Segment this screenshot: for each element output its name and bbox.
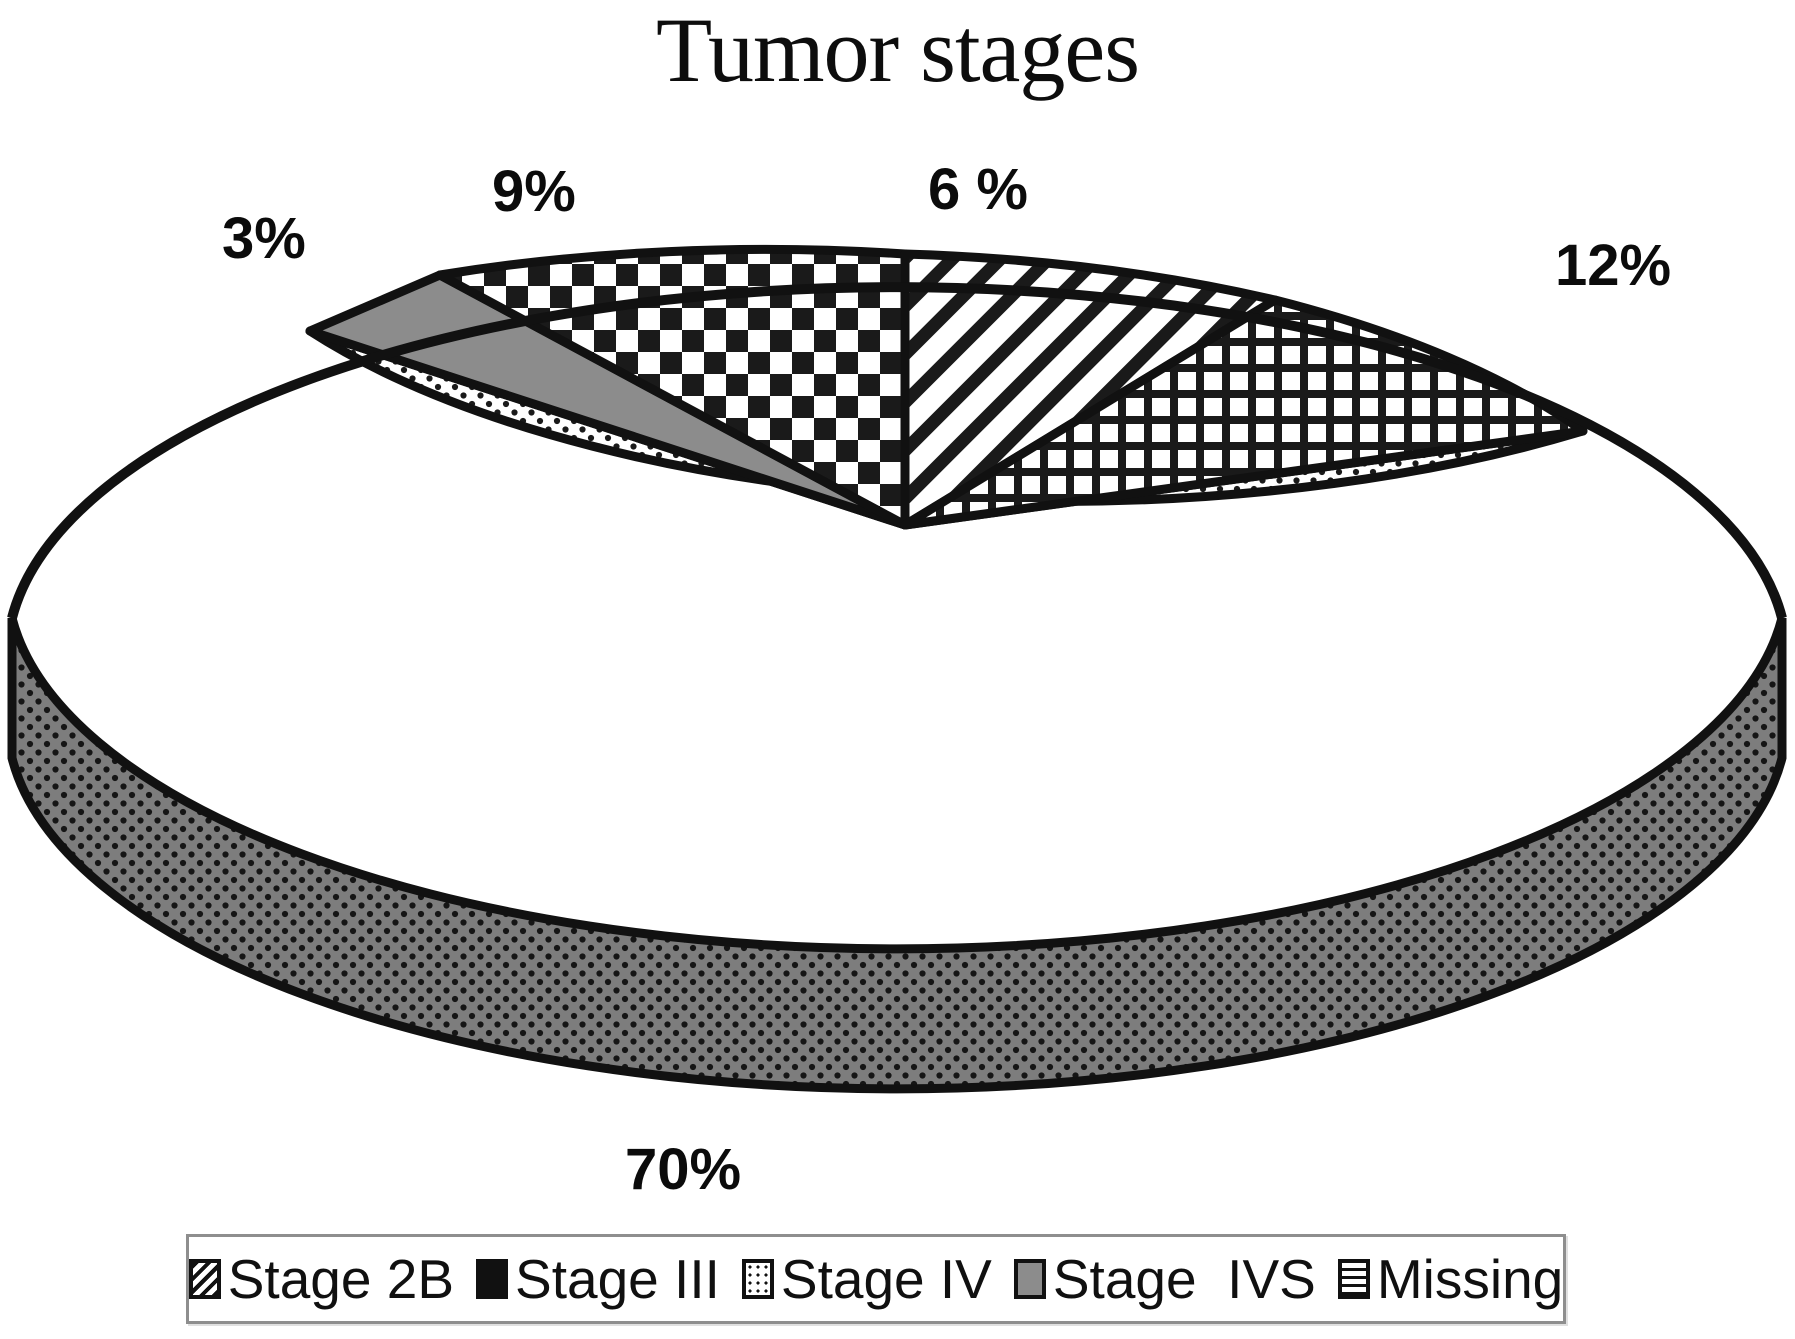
slice-label-stage-iv: 70% [625,1136,741,1203]
legend-label-stage-iv: Stage IV [781,1252,992,1307]
legend-label-stage-iii: Stage III [515,1252,720,1307]
legend-item-stage-2b[interactable]: Stage 2B [189,1252,454,1307]
legend-label-missing: Missing [1377,1252,1563,1307]
pie-top-face [12,249,1782,618]
slice-label-stage-iii: 9% [492,158,576,225]
legend-swatch-checkerboard-icon [476,1259,508,1299]
legend-label-stage-2b: Stage 2B [228,1252,454,1307]
legend-swatch-solid-gray-icon [1014,1259,1046,1299]
pie-side-wall [12,618,1782,1089]
legend-item-stage-iii[interactable]: Stage III [476,1252,720,1307]
legend-swatch-grid-icon [1338,1259,1370,1299]
legend-swatch-dots-icon [742,1259,774,1299]
legend-swatch-diagonal-stripes-icon [189,1259,221,1299]
legend-label-stage-ivs: Stage IVS [1053,1252,1316,1307]
chart-legend: Stage 2B Stage III Stage IV Stage IVS Mi… [186,1234,1566,1324]
slice-label-missing: 12% [1555,232,1671,299]
slice-label-stage-2b: 6 % [928,156,1028,223]
pie-chart-3d: 3% 9% 6 % 12% 70% [0,0,1795,1339]
legend-item-stage-iv[interactable]: Stage IV [742,1252,992,1307]
chart-page: Tumor stages [0,0,1795,1339]
slice-label-stage-ivs: 3% [222,205,306,272]
legend-item-stage-ivs[interactable]: Stage IVS [1014,1252,1316,1307]
legend-item-missing[interactable]: Missing [1338,1252,1563,1307]
pie-svg [0,0,1795,1339]
